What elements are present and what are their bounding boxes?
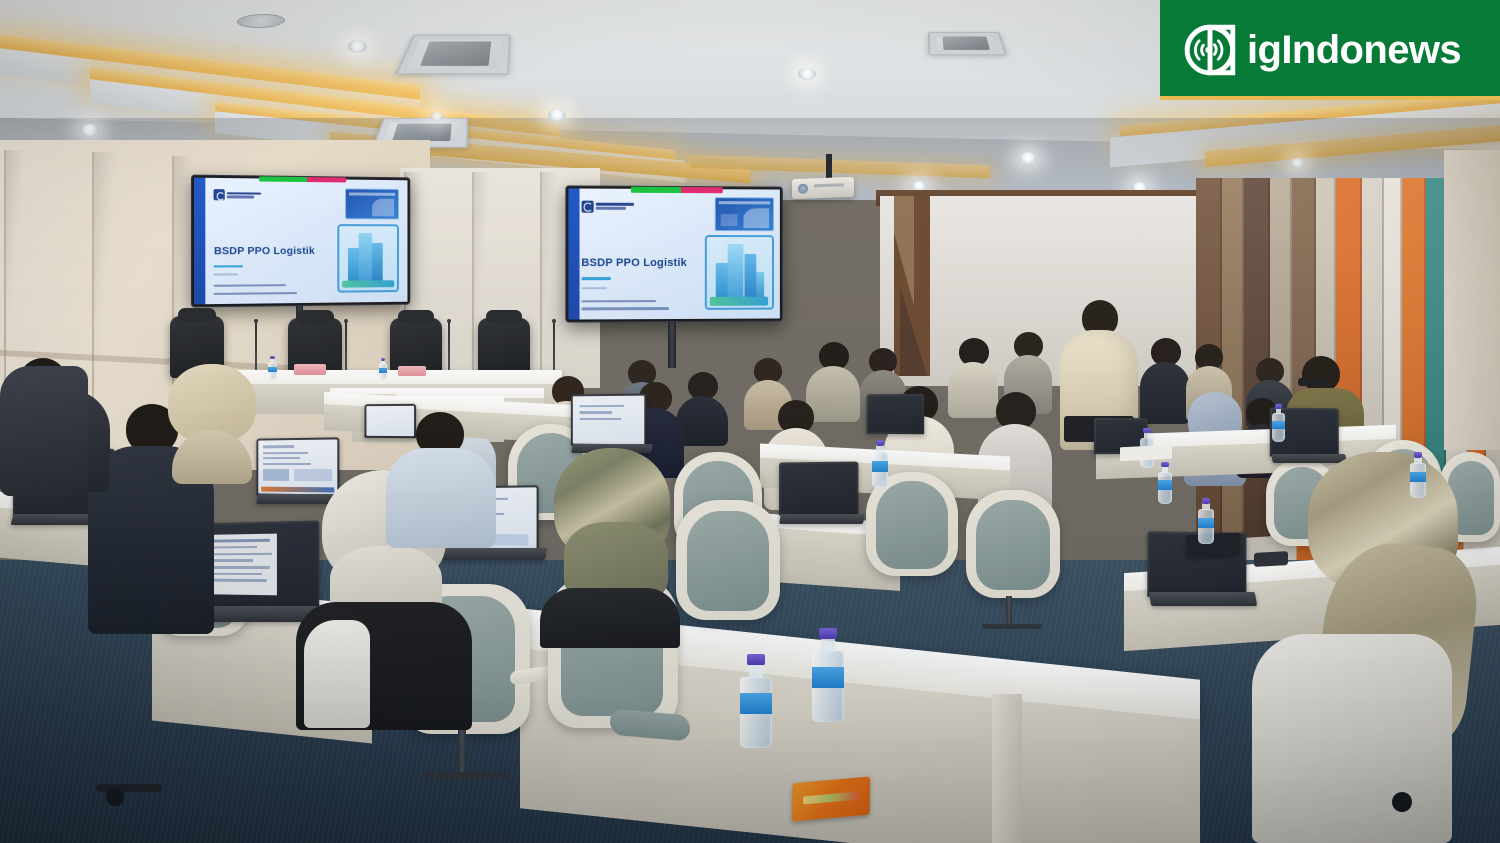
- watermark-brand-name: igIndonews: [1247, 30, 1461, 70]
- water-bottle-mid-1: [872, 440, 888, 488]
- ceiling-downlight-5: [1019, 152, 1037, 164]
- laptop-10[interactable]: [866, 394, 928, 442]
- slide-title-right: BSDP PPO Logistik: [581, 257, 687, 269]
- slide-thumbnail-left: [345, 188, 399, 219]
- ac-vent-1: [395, 35, 511, 75]
- slide-illustration-right: [705, 235, 774, 310]
- slide-thumbnail-right: [715, 197, 774, 231]
- water-bottle-mid-2: [1198, 498, 1214, 544]
- slide-org-name-line2: [595, 207, 625, 210]
- water-bottle-right-1: [1410, 452, 1426, 498]
- slide-illustration-left: [337, 224, 399, 293]
- water-bottle-foreground-1: [740, 654, 772, 748]
- ceiling-downlight-1: [348, 40, 367, 53]
- projector-mount-arm: [826, 154, 832, 180]
- desk-foreground-leg: [992, 694, 1022, 843]
- screen-status-bar-right: [631, 187, 722, 193]
- microphone-3: [448, 322, 450, 374]
- coat-on-chair: [0, 366, 88, 496]
- chair-wheel-base: [96, 784, 162, 792]
- chair-row2-d[interactable]: [966, 490, 1060, 598]
- attendee-foreground-blue-shirt: [386, 412, 496, 548]
- water-bottle-head-2: [379, 358, 387, 380]
- slide-subtitle-1: [581, 300, 656, 303]
- chair-row3-d[interactable]: [676, 500, 780, 620]
- ceiling-downlight-2: [80, 124, 99, 136]
- screen-status-bar-left: [259, 176, 347, 182]
- exec-chair-4[interactable]: [478, 318, 530, 376]
- microphone-4: [553, 322, 555, 374]
- water-bottle-foreground-2: [812, 628, 844, 722]
- attendee-foreground-right-shawl: [1252, 452, 1482, 843]
- display-screen-left[interactable]: BSDP PPO Logistik: [191, 175, 410, 308]
- watermark-underline: [1160, 96, 1500, 100]
- training-room-photo: BSDP PPO Logistik: [0, 0, 1500, 843]
- display-screen-right[interactable]: BSDP PPO Logistik: [565, 185, 782, 322]
- shield-wifi-logo-icon: [1182, 22, 1238, 78]
- water-bottle-head-1: [268, 356, 277, 380]
- slide-org-name-line1: [595, 203, 633, 206]
- chair-wheel: [106, 788, 124, 806]
- pink-tray-1: [294, 364, 326, 375]
- laptop-6[interactable]: [778, 462, 864, 528]
- ceiling-downlight-8: [430, 112, 444, 121]
- chair-wheel-2: [1392, 792, 1412, 812]
- watermark-logo: igIndonews: [1160, 0, 1500, 100]
- slide-content-right: BSDP PPO Logistik: [568, 188, 779, 319]
- water-bottle-mid-4: [1158, 462, 1172, 504]
- projector: [792, 177, 854, 199]
- slide-content-left: BSDP PPO Logistik: [194, 178, 407, 305]
- screen-stand-right: [668, 322, 676, 368]
- attendee-foreground-left-2: [168, 364, 256, 484]
- slide-date: [581, 287, 607, 290]
- attendee-back-8: [1140, 338, 1190, 424]
- papers-on-desk: [1120, 445, 1172, 462]
- pink-tray-2: [398, 366, 426, 376]
- ceiling-downlight-4: [798, 68, 816, 80]
- wall-right-edge: [1444, 150, 1500, 450]
- microphone-2: [345, 322, 347, 376]
- water-bottle-right-2: [1272, 404, 1285, 442]
- snack-pack: [792, 776, 870, 821]
- ac-vent-3: [928, 32, 1007, 55]
- ceiling-downlight-9: [1290, 158, 1305, 168]
- slide-title-left: BSDP PPO Logistik: [214, 245, 315, 257]
- slide-subtitle-2: [581, 307, 668, 310]
- attendee-foreground-patterned-hijab: [540, 448, 680, 648]
- ceiling-downlight-3: [548, 109, 566, 121]
